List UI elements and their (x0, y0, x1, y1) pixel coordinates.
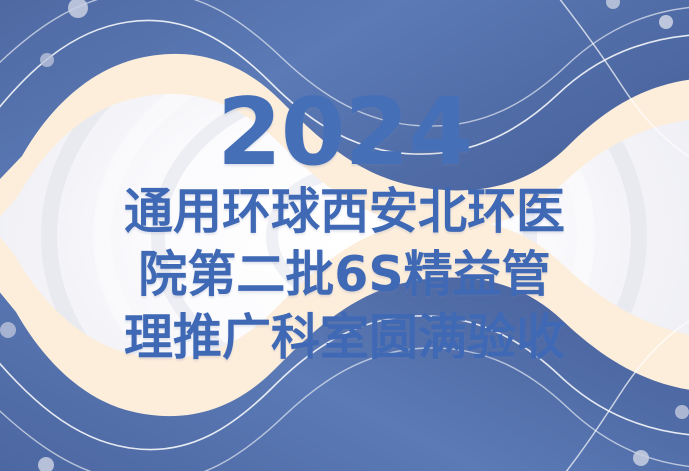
headline-line-3: 理推广科室圆满验收 (124, 308, 565, 369)
poster-text-content: 2024 通用环球西安北环医 院第二批6S精益管 理推广科室圆满验收 (0, 0, 689, 471)
headline-block: 通用环球西安北环医 院第二批6S精益管 理推广科室圆满验收 (124, 182, 565, 368)
year-heading: 2024 (217, 88, 472, 176)
poster-canvas: 2024 通用环球西安北环医 院第二批6S精益管 理推广科室圆满验收 (0, 0, 689, 471)
headline-line-1: 通用环球西安北环医 (124, 182, 565, 243)
headline-line-2: 院第二批6S精益管 (138, 245, 550, 306)
